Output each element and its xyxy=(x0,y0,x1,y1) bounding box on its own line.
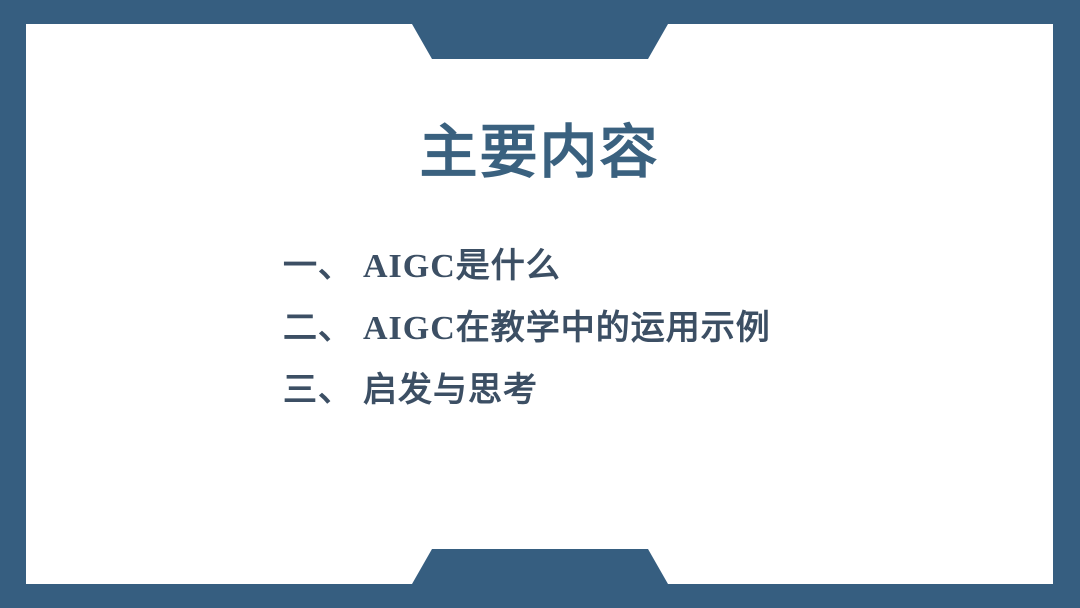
list-item-marker: 三、 xyxy=(283,360,353,422)
list-item-marker: 一、 xyxy=(283,236,353,298)
list-item: 一、 AIGC是什么 xyxy=(283,236,1043,298)
list-item-label: AIGC是什么 xyxy=(363,236,561,298)
list-item-label: AIGC在教学中的运用示例 xyxy=(363,298,771,360)
slide-content-area: 主要内容 一、 AIGC是什么 二、 AIGC在教学中的运用示例 三、 启发与思… xyxy=(26,24,1053,584)
presentation-slide: 主要内容 一、 AIGC是什么 二、 AIGC在教学中的运用示例 三、 启发与思… xyxy=(0,0,1080,608)
list-item-label: 启发与思考 xyxy=(363,360,538,422)
list-item: 二、 AIGC在教学中的运用示例 xyxy=(283,298,1043,360)
list-item: 三、 启发与思考 xyxy=(283,360,1043,422)
page-title: 主要内容 xyxy=(26,124,1053,182)
agenda-list: 一、 AIGC是什么 二、 AIGC在教学中的运用示例 三、 启发与思考 xyxy=(283,236,1043,422)
list-item-marker: 二、 xyxy=(283,298,353,360)
